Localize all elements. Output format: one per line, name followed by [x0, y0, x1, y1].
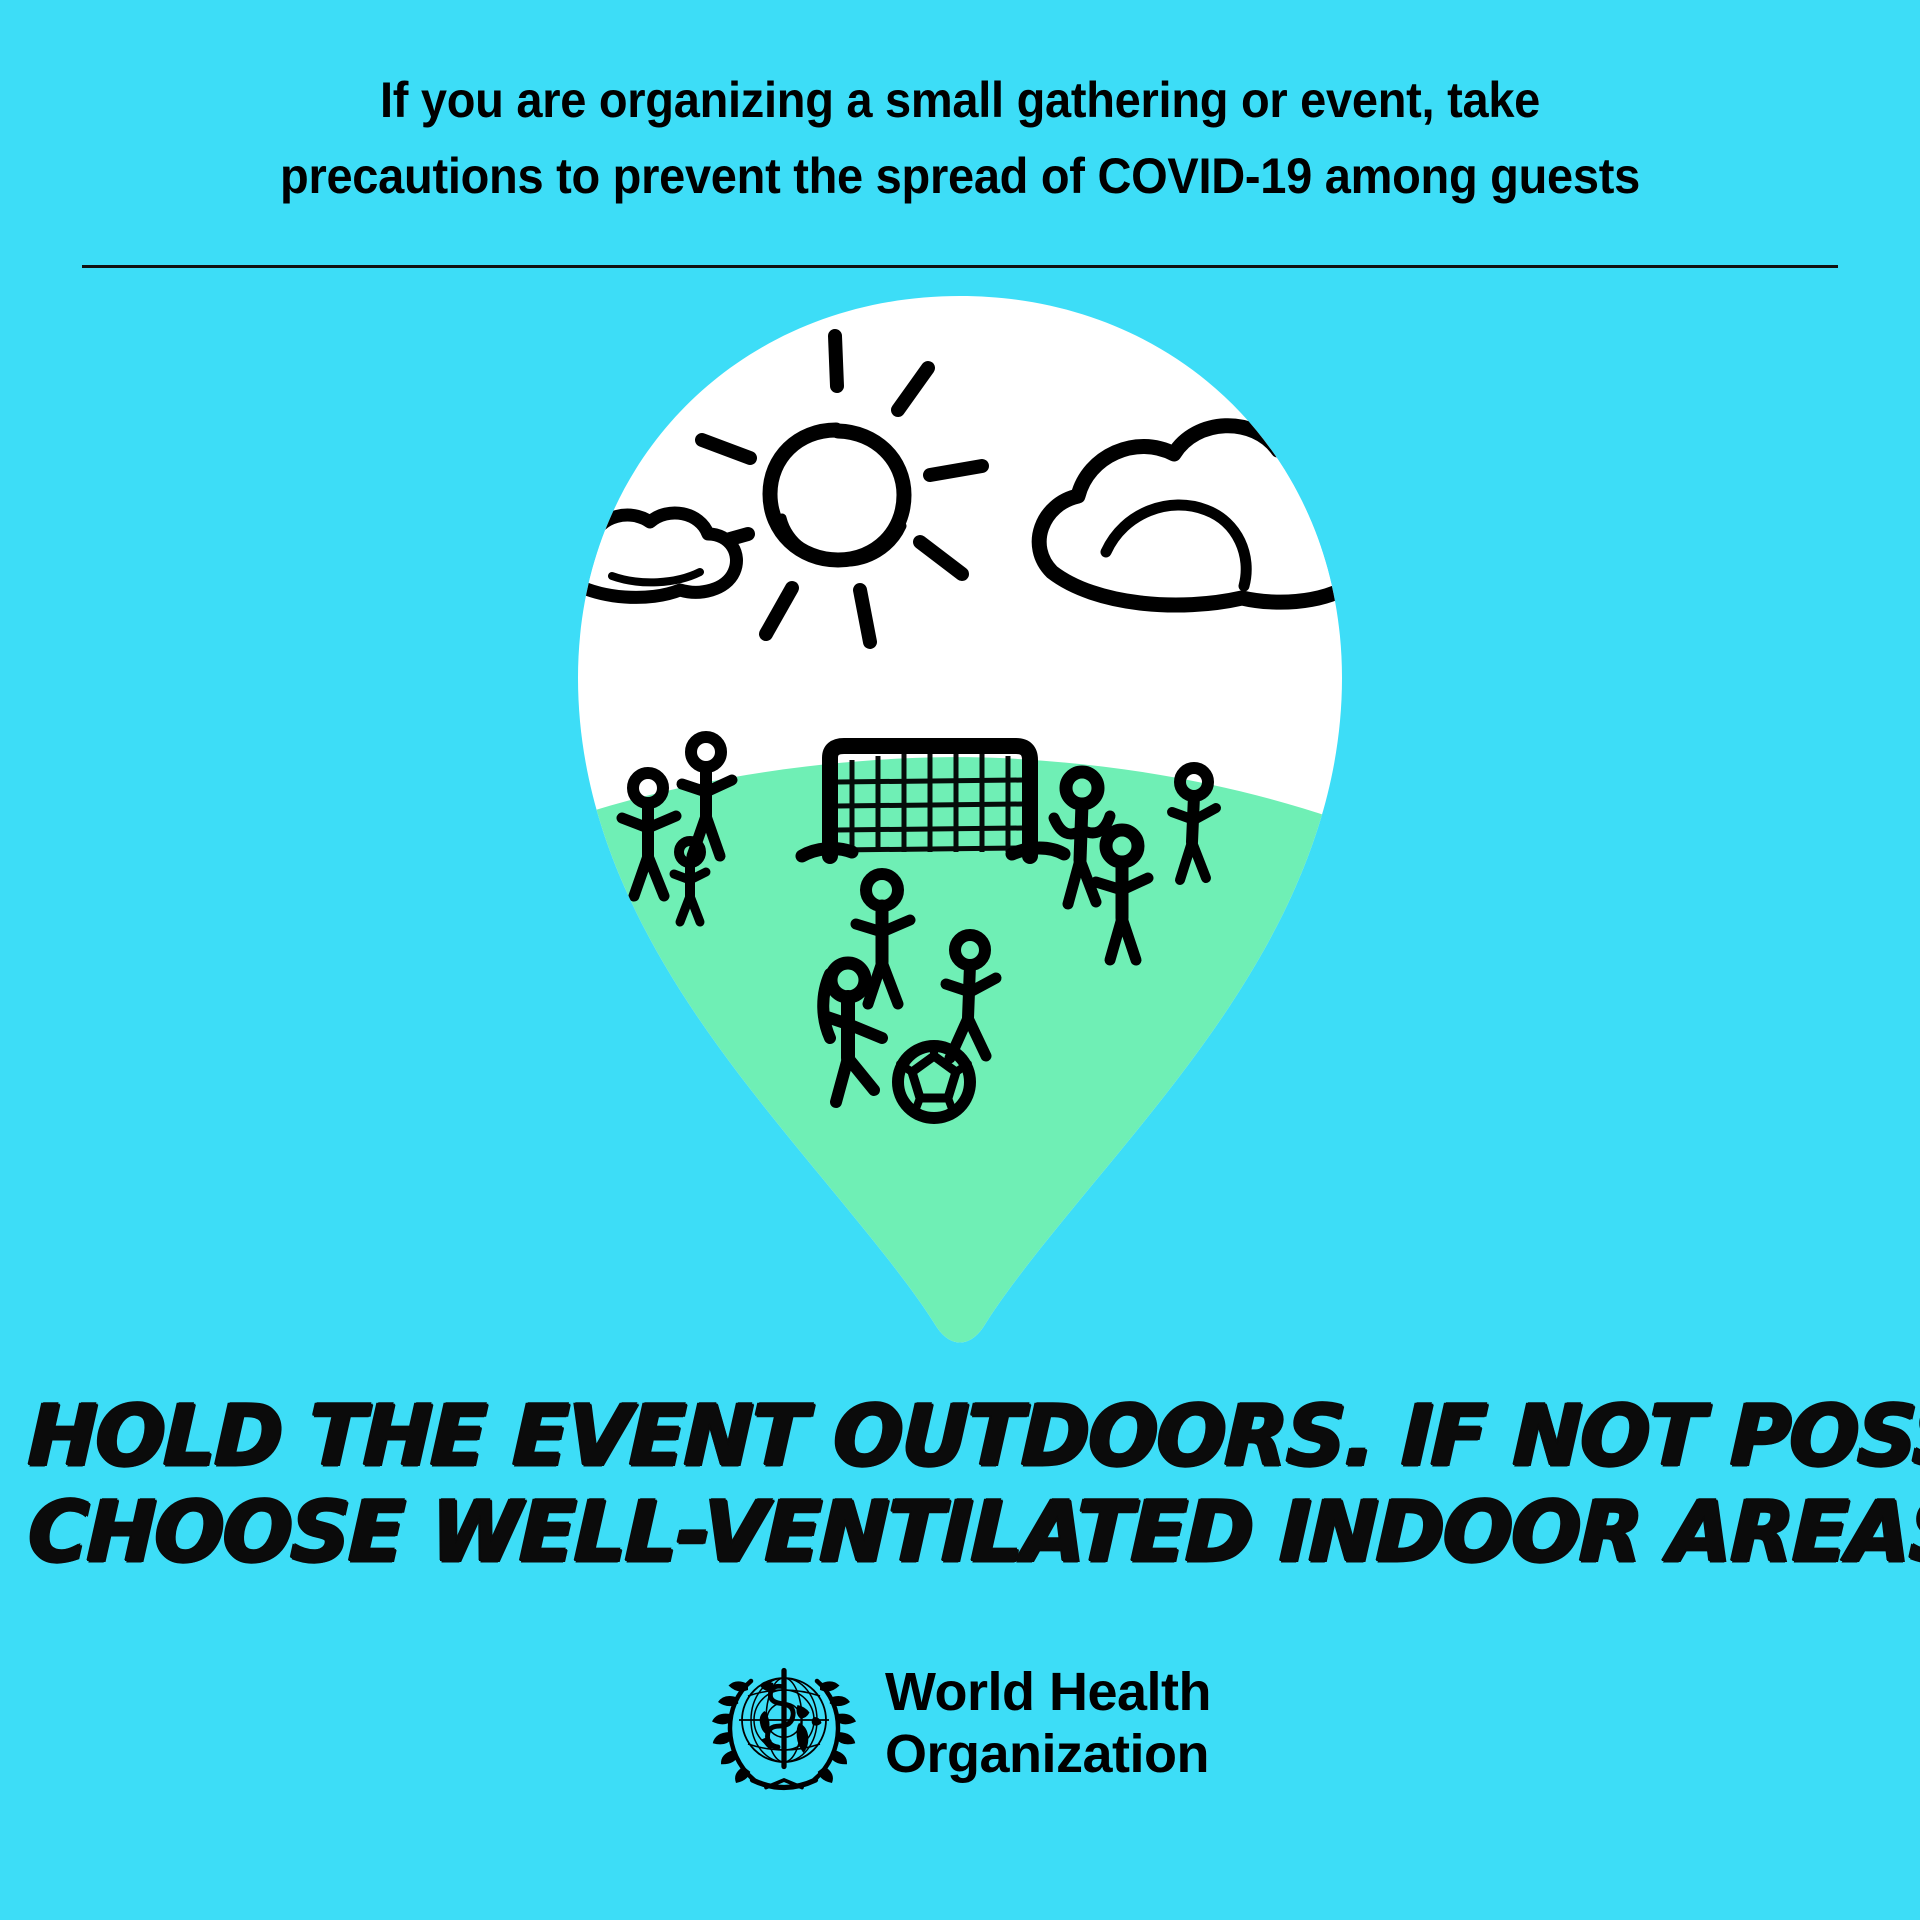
header-divider-rule [82, 265, 1838, 268]
cloud-small-icon [564, 513, 736, 597]
poster-canvas: If you are organizing a small gathering … [0, 0, 1920, 1920]
who-name-line-2: Organization [885, 1723, 1211, 1785]
outdoor-gathering-location-pin [530, 290, 1390, 1350]
who-name-line-1: World Health [885, 1661, 1211, 1723]
who-logo-block: World Health Organization [0, 1648, 1920, 1798]
who-emblem-icon [709, 1648, 859, 1798]
headline-block: HOLD THE EVENT OUTDOORS. IF NOT POSSIBLE… [0, 1388, 1920, 1580]
header-line-2: precautions to prevent the spread of COV… [58, 138, 1863, 214]
headline-line-2: CHOOSE WELL-VENTILATED INDOOR AREAS. [27, 1484, 1893, 1580]
headline-line-1: HOLD THE EVENT OUTDOORS. IF NOT POSSIBLE… [27, 1388, 1893, 1484]
illustration-area [0, 290, 1920, 1350]
header-text-block: If you are organizing a small gathering … [0, 62, 1920, 214]
header-line-1: If you are organizing a small gathering … [58, 62, 1863, 138]
who-wordmark: World Health Organization [885, 1661, 1211, 1785]
